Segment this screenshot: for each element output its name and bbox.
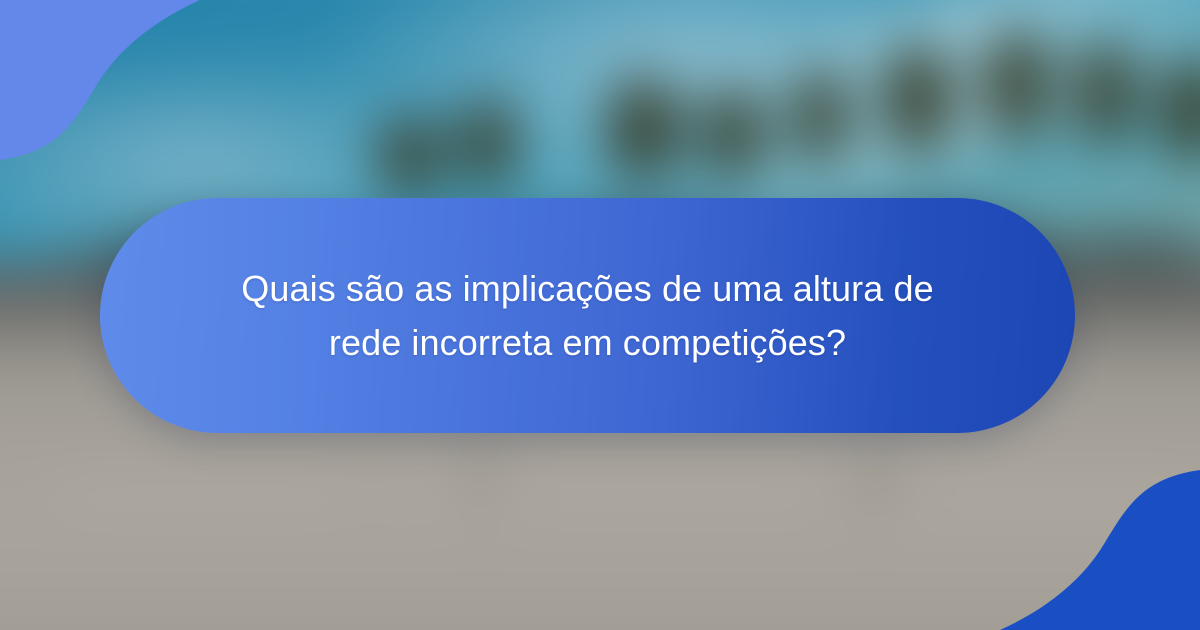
palm-tree-silhouette bbox=[1072, 40, 1138, 150]
palm-tree-silhouette bbox=[701, 87, 767, 185]
court-line bbox=[59, 490, 356, 495]
palm-tree-silhouette bbox=[377, 117, 443, 200]
share-card-canvas: Quais são as implicações de uma altura d… bbox=[0, 0, 1200, 630]
palm-tree-silhouette bbox=[881, 45, 955, 159]
wave-blob-top-left bbox=[0, 0, 230, 190]
quote-card: Quais são as implicações de uma altura d… bbox=[100, 198, 1075, 433]
palm-tree-silhouette bbox=[791, 68, 850, 170]
palm-tree-silhouette bbox=[457, 100, 518, 191]
wave-blob-bottom-right bbox=[970, 440, 1200, 630]
palm-tree-silhouette bbox=[982, 30, 1052, 147]
quote-text: Quais são as implicações de uma altura d… bbox=[218, 262, 958, 370]
palm-tree-silhouette bbox=[605, 79, 683, 185]
net-post bbox=[876, 433, 883, 511]
net-post bbox=[477, 437, 484, 511]
court-line bbox=[388, 488, 833, 493]
